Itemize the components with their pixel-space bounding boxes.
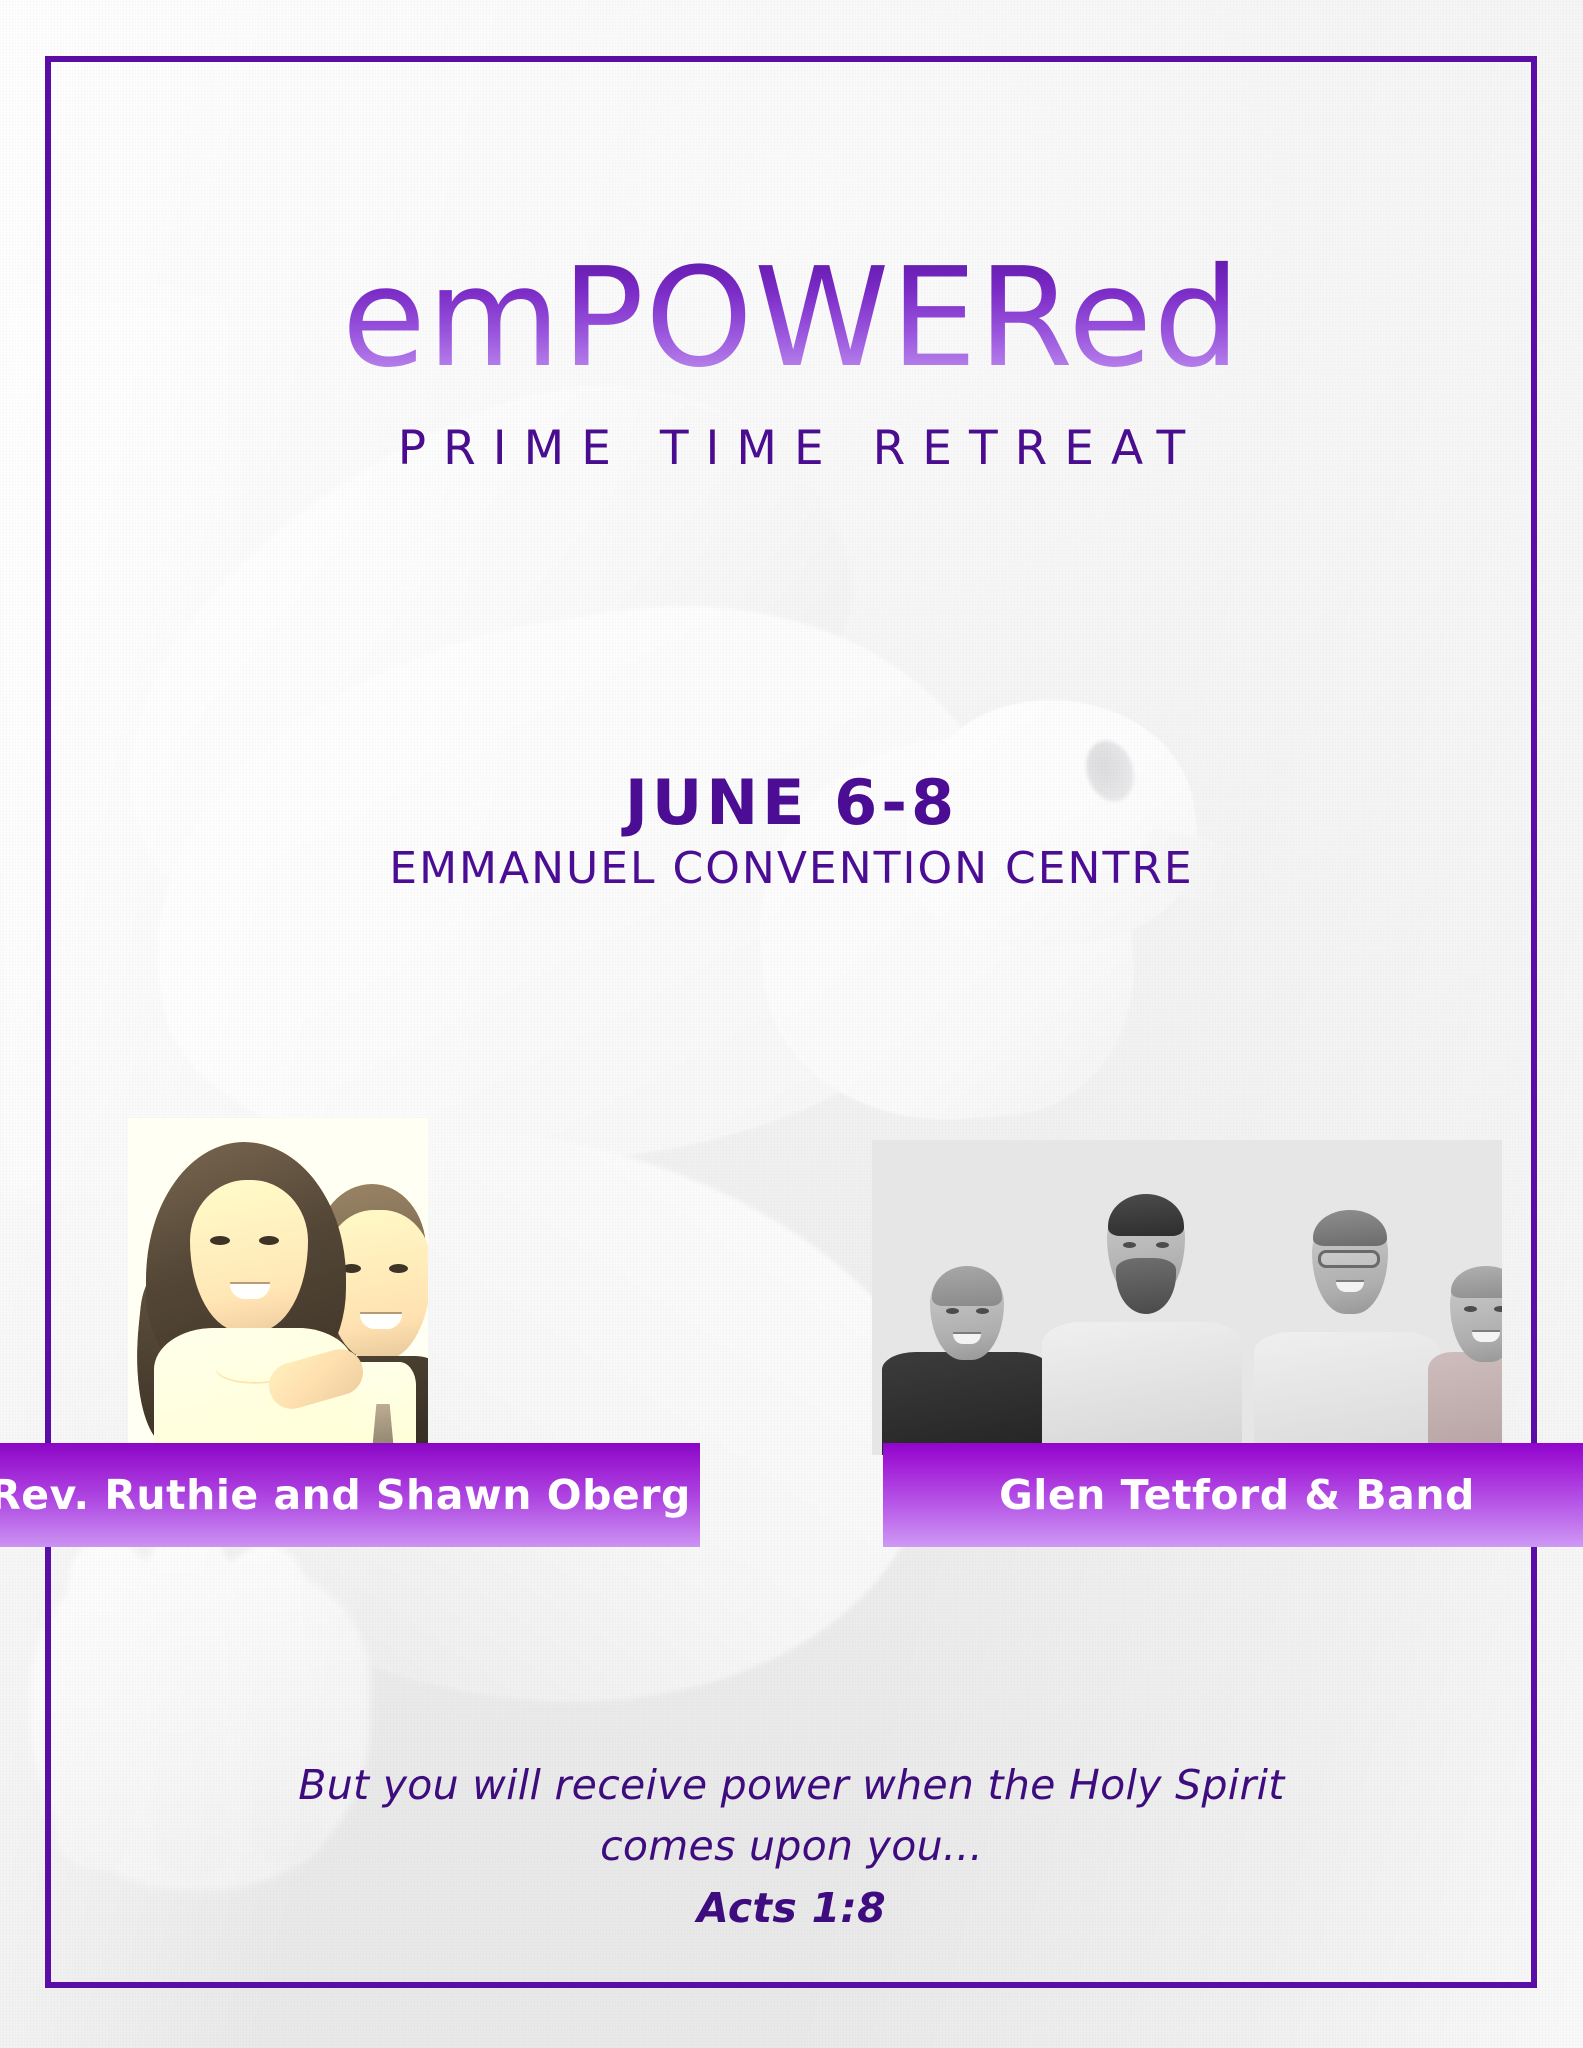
band-member-glasses [1318, 1250, 1380, 1268]
band-member-eye [1123, 1242, 1136, 1248]
band-member-eye [1494, 1306, 1502, 1312]
speaker-banner-right-label: Glen Tetford & Band [999, 1471, 1475, 1519]
band-member-hair [1451, 1266, 1502, 1298]
speaker-photo-couple [128, 1118, 428, 1453]
band-member-hair [1108, 1194, 1184, 1236]
band-member-hair [1313, 1210, 1387, 1246]
woman-face [190, 1180, 308, 1332]
band-member-eye [976, 1308, 989, 1314]
band-member-eye [1156, 1242, 1169, 1248]
band-member-torso [1428, 1352, 1502, 1455]
poster-title: emPOWERed [342, 250, 1242, 387]
event-venue: EMMANUEL CONVENTION CENTRE [0, 843, 1583, 894]
speaker-banner-left: Rev. Ruthie and Shawn Oberg [0, 1443, 700, 1547]
band-member-beard [1116, 1258, 1176, 1314]
band-member-torso [1254, 1332, 1440, 1455]
scripture-line-1: But you will receive power when the Holy… [0, 1755, 1583, 1816]
speaker-banner-right: Glen Tetford & Band [883, 1443, 1583, 1547]
band-photo [872, 1140, 1502, 1455]
band-member-torso [1042, 1322, 1242, 1455]
scripture-block: But you will receive power when the Holy… [0, 1755, 1583, 1932]
headline-block: emPOWERed PRIME TIME RETREAT [0, 250, 1583, 476]
band-member-torso [882, 1352, 1050, 1455]
band-member-hair [932, 1266, 1002, 1306]
poster-subtitle: PRIME TIME RETREAT [0, 421, 1583, 476]
woman-eye-left [210, 1236, 230, 1245]
scripture-line-2: comes upon you... [0, 1816, 1583, 1877]
man-eye-right [389, 1264, 408, 1273]
scripture-reference: Acts 1:8 [0, 1884, 1583, 1932]
date-venue-block: JUNE 6-8 EMMANUEL CONVENTION CENTRE [0, 770, 1583, 894]
band-photo-canvas [872, 1140, 1502, 1455]
couple-photo-canvas [128, 1118, 428, 1453]
band-member-eye [946, 1308, 959, 1314]
event-date: JUNE 6-8 [0, 770, 1583, 835]
speaker-banner-left-label: Rev. Ruthie and Shawn Oberg [0, 1471, 691, 1519]
poster-root: emPOWERed PRIME TIME RETREAT JUNE 6-8 EM… [0, 0, 1583, 2048]
woman-eye-right [259, 1236, 279, 1245]
band-member-eye [1464, 1306, 1477, 1312]
